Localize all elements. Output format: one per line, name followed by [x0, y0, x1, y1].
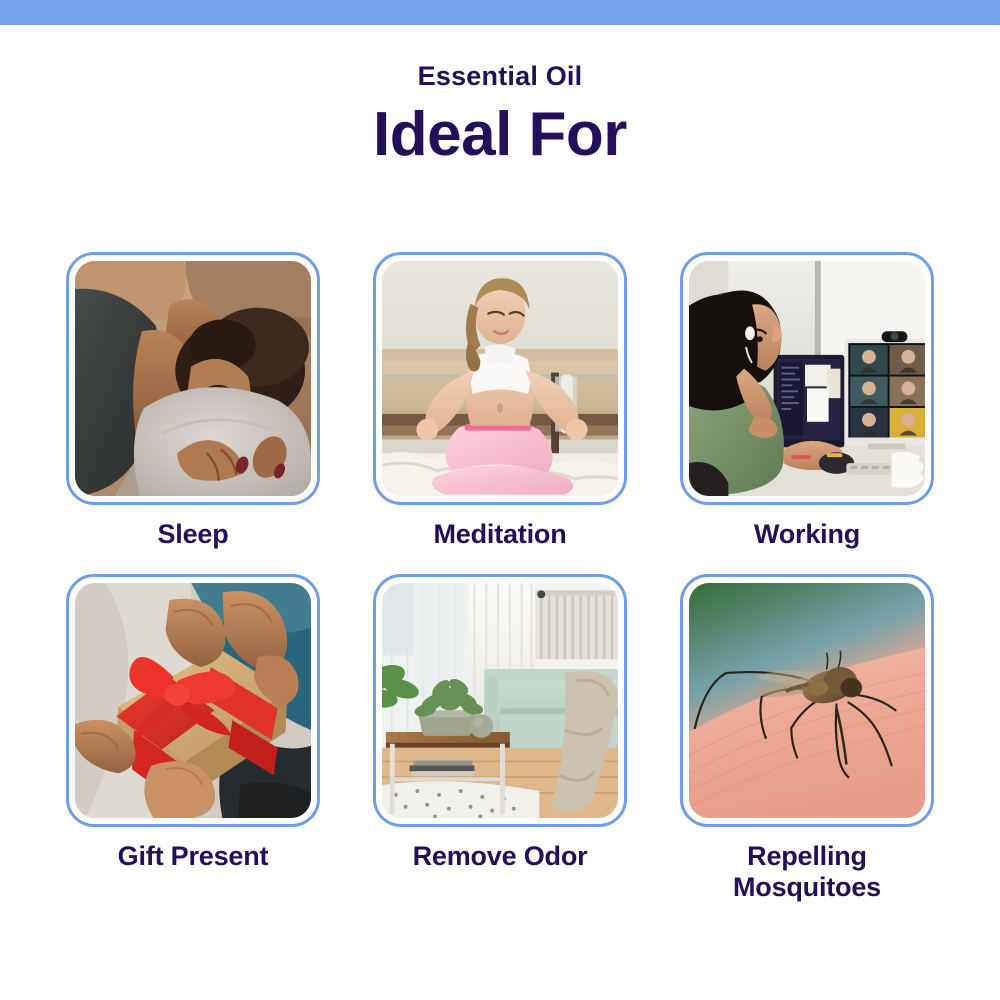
image-card-frame	[373, 574, 627, 827]
header: Essential Oil Ideal For	[0, 60, 1000, 170]
woman-sleeping-hugging-pillow-photo	[75, 261, 311, 496]
caption-label: Repelling Mosquitoes	[680, 841, 934, 903]
woman-working-video-call-desk-photo	[689, 261, 925, 496]
grid-item-meditation: Meditation	[373, 252, 627, 550]
image-card-frame	[680, 252, 934, 505]
benefits-grid: Sleep	[66, 252, 934, 903]
grid-item-repelling-mosquitoes: Repelling Mosquitoes	[680, 574, 934, 903]
woman-meditating-lotus-pose-photo	[382, 261, 618, 496]
eyebrow-text: Essential Oil	[0, 60, 1000, 92]
top-accent-bar	[0, 0, 1000, 25]
caption-label: Gift Present	[118, 841, 269, 872]
infographic-page: Essential Oil Ideal For	[0, 0, 1000, 1000]
image-card-frame	[680, 574, 934, 827]
caption-label: Working	[754, 519, 860, 550]
grid-item-sleep: Sleep	[66, 252, 320, 550]
grid-item-gift-present: Gift Present	[66, 574, 320, 903]
grid-item-working: Working	[680, 252, 934, 550]
bright-living-room-sofa-plant-photo	[382, 583, 618, 818]
image-card-frame	[66, 574, 320, 827]
image-card-frame	[373, 252, 627, 505]
caption-label: Meditation	[434, 519, 567, 550]
image-card-frame	[66, 252, 320, 505]
caption-label: Sleep	[157, 519, 228, 550]
grid-item-remove-odor: Remove Odor	[373, 574, 627, 903]
caption-label: Remove Odor	[413, 841, 588, 872]
page-title: Ideal For	[0, 100, 1000, 169]
mosquito-on-skin-macro-photo	[689, 583, 925, 818]
hands-exchanging-gift-box-red-ribbon-photo	[75, 583, 311, 818]
